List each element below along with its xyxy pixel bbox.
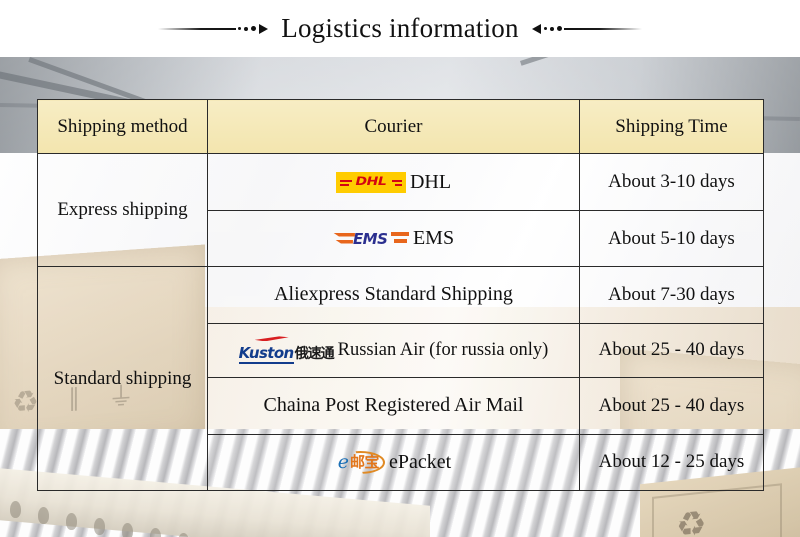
kuston-logo-cn: 俄速通 xyxy=(295,347,334,361)
shipping-time: About 3-10 days xyxy=(580,154,764,210)
group-standard-shipping: Standard shipping xyxy=(38,267,208,491)
title-band: Logistics information xyxy=(0,0,800,57)
deco-dots-left xyxy=(238,26,256,31)
courier-cell-aliexpress: Aliexpress Standard Shipping xyxy=(208,267,580,323)
logistics-table-wrapper: Shipping method Courier Shipping Time Ex… xyxy=(37,99,763,491)
shipping-time: About 25 - 40 days xyxy=(580,323,764,377)
ems-logo: EMS xyxy=(333,229,409,249)
table-header-row: Shipping method Courier Shipping Time xyxy=(38,100,764,154)
shipping-time: About 25 - 40 days xyxy=(580,378,764,434)
courier-name: EMS xyxy=(413,227,454,250)
courier-name: ePacket xyxy=(389,451,451,474)
ems-logo-text: EMS xyxy=(353,230,387,248)
header-shipping-method: Shipping method xyxy=(38,100,208,154)
group-express-shipping: Express shipping xyxy=(38,154,208,267)
table-row: Express shipping DHL DHL About 3-10 days xyxy=(38,154,764,210)
courier-cell-china-post: Chaina Post Registered Air Mail xyxy=(208,378,580,434)
courier-name: Russian Air (for russia only) xyxy=(338,340,549,361)
courier-name: Chaina Post Registered Air Mail xyxy=(264,394,524,417)
dhl-logo-text: DHL xyxy=(356,176,387,189)
courier-cell-ems: EMS EMS xyxy=(208,210,580,266)
courier-cell-russian-air: Kuston 俄速通 Russian Air (for russia only) xyxy=(208,323,580,377)
courier-cell-dhl: DHL DHL xyxy=(208,154,580,210)
deco-dots-right xyxy=(544,26,562,31)
shipping-time: About 12 - 25 days xyxy=(580,434,764,491)
courier-cell-epacket: e 邮宝 ePacket xyxy=(208,434,580,491)
epacket-logo-e: e xyxy=(338,453,349,472)
logistics-table: Shipping method Courier Shipping Time Ex… xyxy=(37,99,764,491)
dhl-logo: DHL xyxy=(336,172,406,193)
epacket-logo: e 邮宝 xyxy=(336,451,385,474)
shipping-time: About 5-10 days xyxy=(580,210,764,266)
shipping-time: About 7-30 days xyxy=(580,267,764,323)
courier-name: DHL xyxy=(410,171,451,194)
page-title: Logistics information xyxy=(268,13,531,44)
arrow-right-icon xyxy=(259,24,268,34)
header-shipping-time: Shipping Time xyxy=(580,100,764,154)
kuston-logo: Kuston 俄速通 xyxy=(239,339,334,361)
deco-line-left xyxy=(158,28,236,30)
header-courier: Courier xyxy=(208,100,580,154)
table-row: Standard shipping Aliexpress Standard Sh… xyxy=(38,267,764,323)
kuston-logo-text: Kuston xyxy=(239,346,294,361)
title-decoration: Logistics information xyxy=(158,13,641,44)
arrow-left-icon xyxy=(532,24,541,34)
courier-name: Aliexpress Standard Shipping xyxy=(274,283,513,306)
deco-line-right xyxy=(564,28,642,30)
